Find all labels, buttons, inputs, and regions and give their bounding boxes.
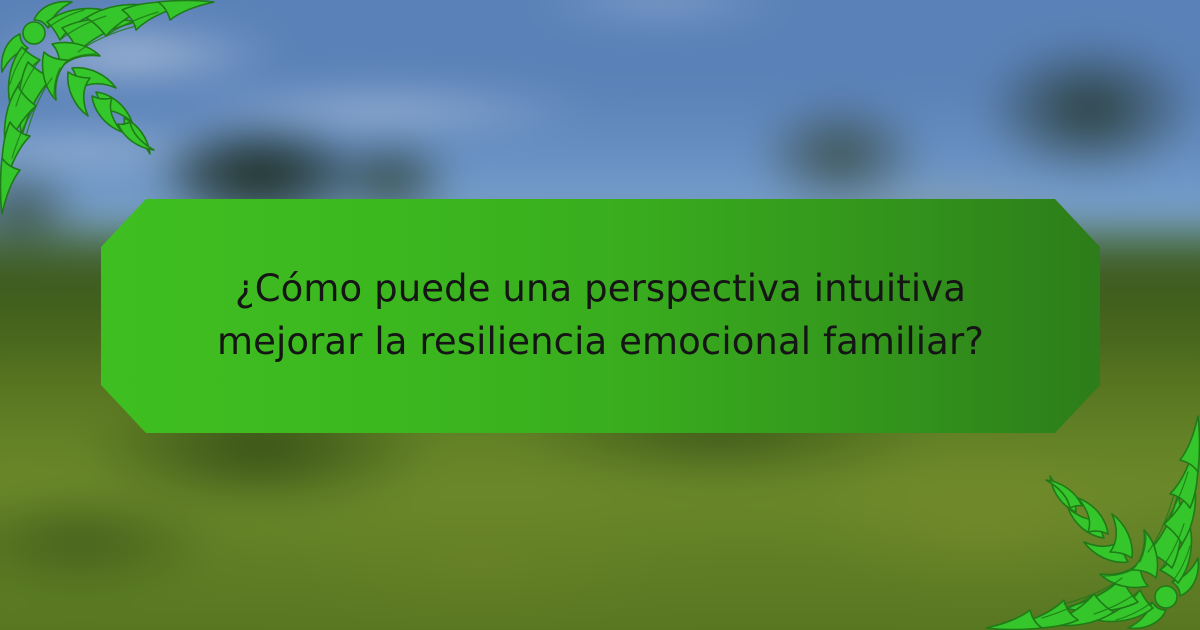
question-line-1: ¿Cómo puede una perspectiva intuitiva <box>235 263 966 316</box>
question-line-2: mejorar la resiliencia emocional familia… <box>217 316 984 369</box>
poster-canvas: ¿Cómo puede una perspectiva intuitiva me… <box>0 0 1200 630</box>
question-banner: ¿Cómo puede una perspectiva intuitiva me… <box>101 199 1100 433</box>
